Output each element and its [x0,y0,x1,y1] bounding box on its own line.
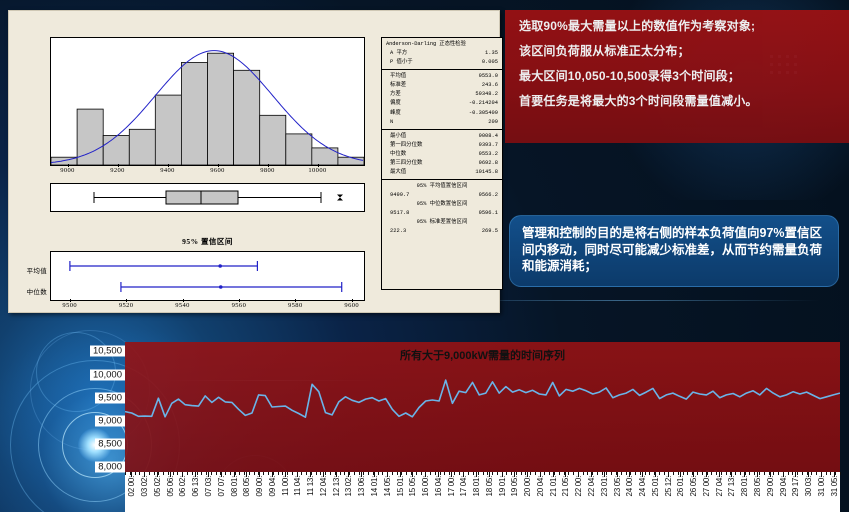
x-axis-minor-tick [316,472,317,475]
x-axis-minor-tick [587,472,588,475]
ci-upper: 9596.1 [479,209,498,218]
goal-callout-panel: 管理和控制的目的是将右侧的样本负荷值向97%置信区间内移动，同时尽可能减少标准差… [509,215,839,287]
x-axis-minor-tick [544,472,545,475]
x-axis-minor-tick [530,472,531,475]
x-axis-label: 11 04: [293,476,302,496]
table-row: 第一四分位数9393.7 [386,141,498,150]
x-axis-minor-tick [754,472,755,475]
x-axis-minor-tick [201,472,202,475]
x-axis-minor-tick [773,472,774,475]
table-row: 峰度-0.305409 [386,109,498,118]
stat-key: 平均值 [386,72,406,81]
x-axis-label: 27 00: [702,476,711,496]
x-axis-minor-tick [535,472,536,475]
x-axis-minor-tick [468,472,469,475]
x-axis-minor-tick [602,472,603,475]
x-axis-label: 22 04: [587,476,596,496]
stat-value: 9553.0 [479,72,498,81]
x-axis-minor-tick [187,472,188,475]
ci-point-estimate [218,264,222,268]
histogram-svg [51,38,364,165]
x-axis-label: 27 13: [727,476,736,496]
x-axis-minor-tick [440,472,441,475]
axis-tick-label: 9200 [110,167,125,174]
x-axis-label: 08 05: [242,476,251,496]
x-axis-minor-tick [211,472,212,475]
axis-tick-label: 9520 [119,302,134,309]
x-axis-minor-tick [158,472,159,475]
x-axis-minor-tick [597,472,598,475]
x-axis-label: 11 13: [306,476,315,496]
x-axis-minor-tick [559,472,560,475]
timeseries-x-axis: 02 00:03 02:05 02:05 06:06 02:06 13:07 0… [125,472,840,512]
x-axis-label: 22 00: [574,476,583,496]
x-axis-minor-tick [721,472,722,475]
observation-line-2: 该区间负荷服从标准正太分布； [519,45,835,57]
statistics-table: Anderson-Darling 正态性检验 A 平方1.35 P 值小于0.0… [381,37,503,290]
x-axis-minor-tick [230,472,231,475]
histogram-bar [208,53,234,165]
ci-upper: 9566.2 [479,191,498,200]
table-row: 9517.89596.1 [386,209,498,218]
x-axis-label: 28 05: [753,476,762,496]
x-axis-minor-tick [368,472,369,475]
x-axis-minor-tick [521,472,522,475]
histogram-bar [103,136,129,166]
x-axis-minor-tick [435,472,436,475]
y-axis-label: 8,500 [95,439,125,450]
stat-key: 方差 [386,90,401,99]
x-axis-minor-tick [835,472,836,475]
x-axis-minor-tick [749,472,750,475]
x-axis-label: 14 05: [383,476,392,496]
axis-tick-label: 9540 [175,302,190,309]
x-axis-minor-tick [206,472,207,475]
x-axis-label: 21 05: [561,476,570,496]
timeseries-chart: 8,0008,5009,0009,50010,00010,500 所有大于9,0… [0,322,849,512]
x-axis-minor-tick [254,472,255,475]
x-axis-minor-tick [483,472,484,475]
stat-key: A 平方 [386,49,407,58]
x-axis-label: 26 01: [676,476,685,496]
x-axis-minor-tick [649,472,650,475]
x-axis-minor-tick [697,472,698,475]
x-axis-label: 28 01: [740,476,749,496]
x-axis-minor-tick [301,472,302,475]
x-axis-minor-tick [611,472,612,475]
x-axis-minor-tick [492,472,493,475]
histogram-bar [286,134,312,165]
axis-tick-label: 9800 [260,167,275,174]
x-axis-minor-tick [778,472,779,475]
boxplot [50,183,365,212]
x-axis-minor-tick [268,472,269,475]
y-axis-label: 8,000 [95,462,125,473]
x-axis-minor-tick [573,472,574,475]
stat-key: 第三四分位数 [386,159,422,168]
stats-section-normality: Anderson-Darling 正态性检验 A 平方1.35 P 值小于0.0… [382,38,502,70]
stat-key: 中位数 [386,150,406,159]
table-row: 平均值9553.0 [386,72,498,81]
x-axis-label: 02 00: [127,476,136,496]
x-axis-minor-tick [788,472,789,475]
x-axis-minor-tick [478,472,479,475]
table-row: P 值小于0.005 [386,58,498,67]
x-axis-minor-tick [225,472,226,475]
x-axis-minor-tick [125,472,126,475]
x-axis-minor-tick [792,472,793,475]
x-axis-label: 25 12: [664,476,673,496]
x-axis-label: 21 01: [549,476,558,496]
ci-block-title: 95% 标准差置信区间 [386,218,498,227]
x-axis-minor-tick [664,472,665,475]
x-axis-minor-tick [216,472,217,475]
x-axis-minor-tick [802,472,803,475]
x-axis-minor-tick [149,472,150,475]
axis-tick-label: 9500 [62,302,77,309]
x-axis-minor-tick [645,472,646,475]
stat-value: 209 [488,118,498,127]
x-axis-minor-tick [673,472,674,475]
x-axis-label: 03 02: [140,476,149,496]
x-axis-minor-tick [139,472,140,475]
stat-value: 9393.7 [479,141,498,150]
table-row: 9499.79566.2 [386,191,498,200]
histogram-x-axis: 9000920094009600980010000 [50,167,365,181]
x-axis-label: 31 00: [817,476,826,496]
table-row: 偏度-0.214204 [386,99,498,108]
ci-lower: 9499.7 [386,191,409,200]
x-axis-label: 09 04: [268,476,277,496]
observation-line-4: 首要任务是将最大的3个时间段需量值减小。 [519,95,835,107]
observations-panel: 选取90%最大需量以上的数值作为考察对象; 该区间负荷服从标准正太分布； 最大区… [505,10,849,143]
x-axis-label: 05 02: [153,476,162,496]
x-axis-minor-tick [511,472,512,475]
x-axis-minor-tick [659,472,660,475]
x-axis-minor-tick [606,472,607,475]
x-axis-label: 19 05: [510,476,519,496]
x-axis-label: 29 00: [766,476,775,496]
x-axis-label: 12 04: [319,476,328,496]
y-axis-label: 10,500 [90,346,125,357]
stat-key: 第一四分位数 [386,141,422,150]
x-axis-label: 07 07: [217,476,226,496]
x-axis-label: 20 04: [536,476,545,496]
graphical-summary-report: 9000920094009600980010000 95% 置信区间 平均值 中… [8,10,500,313]
x-axis-minor-tick [568,472,569,475]
histogram-plot [50,37,365,166]
ci-point-estimate [219,285,223,289]
x-axis-minor-tick [454,472,455,475]
x-axis-minor-tick [363,472,364,475]
ci-block-title: 95% 平均值置信区间 [386,182,498,191]
x-axis-minor-tick [678,472,679,475]
x-axis-label: 30 03: [804,476,813,496]
histogram-bar [155,95,181,165]
x-axis-label: 19 01: [498,476,507,496]
x-axis-label: 09 00: [255,476,264,496]
x-axis-minor-tick [687,472,688,475]
stat-value: -0.214204 [469,99,498,108]
observation-line-3: 最大区间10,050-10,500录得3个时间段； [519,70,835,82]
x-axis-minor-tick [459,472,460,475]
stats-section-descriptive: 平均值9553.0 标准差243.6 方差59348.2 偏度-0.214204… [382,70,502,129]
x-axis-minor-tick [244,472,245,475]
axis-tick-label: 9000 [60,167,75,174]
x-axis-label: 14 01: [370,476,379,496]
x-axis-minor-tick [325,472,326,475]
axis-tick-label: 9580 [288,302,303,309]
x-axis-label: 07 03: [204,476,213,496]
observation-line-1: 选取90%最大需量以上的数值作为考察对象; [519,20,835,32]
x-axis-minor-tick [378,472,379,475]
ci-chart-title: 95% 置信区间 [50,236,365,247]
x-axis-label: 29 17: [791,476,800,496]
x-axis-label: 29 04: [779,476,788,496]
x-axis-minor-tick [797,472,798,475]
x-axis-minor-tick [764,472,765,475]
x-axis-minor-tick [382,472,383,475]
stat-key: 标准差 [386,81,406,90]
x-axis-minor-tick [430,472,431,475]
x-axis-label: 13 06: [357,476,366,496]
x-axis-minor-tick [840,472,841,475]
histogram-bar [181,63,207,166]
x-axis-minor-tick [716,472,717,475]
ad-test-title: Anderson-Darling 正态性检验 [386,40,498,49]
x-axis-minor-tick [473,472,474,475]
axis-tick-label: 9600 [344,302,359,309]
ci-lower: 9517.8 [386,209,409,218]
x-axis-label: 16 00: [421,476,430,496]
stat-value: 243.6 [482,81,498,90]
histogram-bar [338,157,364,165]
x-axis-minor-tick [506,472,507,475]
axis-tick-label: 9560 [232,302,247,309]
histogram-bar [129,129,155,165]
x-axis-minor-tick [330,472,331,475]
x-axis-minor-tick [354,472,355,475]
x-axis-minor-tick [549,472,550,475]
ci-block-title: 95% 中位数置信区间 [386,200,498,209]
x-axis-minor-tick [406,472,407,475]
timeseries-y-axis: 8,0008,5009,0009,50010,00010,500 [78,342,125,472]
x-axis-minor-tick [135,472,136,475]
x-axis-minor-tick [421,472,422,475]
table-row: A 平方1.35 [386,49,498,58]
x-axis-minor-tick [726,472,727,475]
stat-key: 峰度 [386,109,401,118]
ci-row-label-median: 中位数 [11,286,47,296]
stat-value: 59348.2 [475,90,498,99]
stat-value: 9008.4 [479,132,498,141]
x-axis-label: 18 05: [485,476,494,496]
x-axis-minor-tick [683,472,684,475]
axis-tick-label: 9600 [210,167,225,174]
x-axis-minor-tick [583,472,584,475]
x-axis-minor-tick [626,472,627,475]
x-axis-label: 15 01: [396,476,405,496]
table-row: 最小值9008.4 [386,132,498,141]
x-axis-minor-tick [811,472,812,475]
stat-value: 1.35 [485,49,498,58]
x-axis-minor-tick [177,472,178,475]
x-axis-minor-tick [630,472,631,475]
table-row: 标准差243.6 [386,81,498,90]
x-axis-minor-tick [740,472,741,475]
axis-tick-label: 10000 [308,167,326,174]
stat-value: -0.305409 [469,109,498,118]
boxplot-svg [51,184,364,211]
x-axis-label: 06 02: [178,476,187,496]
table-row: 方差59348.2 [386,90,498,99]
x-axis-minor-tick [263,472,264,475]
axis-tick-label: 9400 [160,167,175,174]
x-axis-label: 06 13: [191,476,200,496]
x-axis-label: 17 00: [447,476,456,496]
goal-callout-text: 管理和控制的目的是将右侧的样本负荷值向97%置信区间内移动，同时尽可能减少标准差… [522,225,826,275]
x-axis-label: 23 01: [600,476,609,496]
x-axis-label: 23 05: [613,476,622,496]
x-axis-minor-tick [711,472,712,475]
x-axis-label: 15 05: [408,476,417,496]
stat-key: 最大值 [386,168,406,177]
x-axis-minor-tick [197,472,198,475]
ci-svg [51,252,364,300]
x-axis-minor-tick [735,472,736,475]
x-axis-label: 11 00: [281,476,290,496]
timeseries-line [125,380,840,417]
x-axis-label: 18 01: [472,476,481,496]
x-axis-minor-tick [282,472,283,475]
x-axis-minor-tick [397,472,398,475]
timeseries-title: 所有大于9,000kW需量的时间序列 [125,347,840,363]
x-axis-minor-tick [497,472,498,475]
x-axis-minor-tick [344,472,345,475]
y-axis-label: 9,000 [95,415,125,426]
x-axis-minor-tick [826,472,827,475]
x-axis-label: 25 01: [651,476,660,496]
x-axis-minor-tick [173,472,174,475]
x-axis-label: 26 05: [689,476,698,496]
table-row: 最大值10145.8 [386,168,498,177]
stat-value: 0.005 [482,58,498,67]
x-axis-minor-tick [292,472,293,475]
x-axis-minor-tick [306,472,307,475]
histogram-bar [260,115,286,165]
table-row: 中位数9553.2 [386,150,498,159]
y-axis-label: 10,000 [90,369,125,380]
x-axis-minor-tick [759,472,760,475]
x-axis-label: 17 04: [459,476,468,496]
stat-key: P 值小于 [386,58,413,67]
x-axis-minor-tick [830,472,831,475]
x-axis-minor-tick [340,472,341,475]
confidence-interval-plot [50,251,365,301]
x-axis-minor-tick [320,472,321,475]
x-axis-label: 05 06: [166,476,175,496]
table-row: 第三四分位数9692.8 [386,159,498,168]
x-axis-minor-tick [401,472,402,475]
x-axis-label: 20 00: [523,476,532,496]
table-row: 222.3269.5 [386,227,498,236]
x-axis-minor-tick [287,472,288,475]
x-axis-label: 24 00: [625,476,634,496]
x-axis-minor-tick [416,472,417,475]
x-axis-label: 27 04: [715,476,724,496]
x-axis-label: 08 01: [230,476,239,496]
stat-value: 9692.8 [479,159,498,168]
x-axis-minor-tick [163,472,164,475]
histogram-bar [234,70,260,165]
y-axis-label: 9,500 [95,392,125,403]
x-axis-minor-tick [278,472,279,475]
x-axis-minor-tick [516,472,517,475]
x-axis-minor-tick [564,472,565,475]
x-axis-label: 13 02: [344,476,353,496]
x-axis-label: 31 05: [830,476,839,496]
x-axis-minor-tick [154,472,155,475]
x-axis-minor-tick [816,472,817,475]
x-axis-minor-tick [640,472,641,475]
ci-row-label-mean: 平均值 [11,265,47,275]
x-axis-minor-tick [249,472,250,475]
table-row: N209 [386,118,498,127]
x-axis-label: 24 04: [638,476,647,496]
x-axis-minor-tick [444,472,445,475]
x-axis-minor-tick [392,472,393,475]
ci-x-axis: 950095209540956095809600 [50,302,365,316]
ci-upper: 269.5 [482,227,498,236]
stat-key: 偏度 [386,99,401,108]
stat-key: 最小值 [386,132,406,141]
x-axis-minor-tick [702,472,703,475]
x-axis-minor-tick [635,472,636,475]
x-axis-minor-tick [554,472,555,475]
stat-value: 9553.2 [479,150,498,159]
x-axis-label: 12 13: [332,476,341,496]
x-axis-label: 16 04: [434,476,443,496]
x-axis-minor-tick [239,472,240,475]
ci-lower: 222.3 [386,227,406,236]
x-axis-minor-tick [273,472,274,475]
x-axis-minor-tick [359,472,360,475]
x-axis-minor-tick [621,472,622,475]
stats-section-confidence-intervals: 95% 平均值置信区间 9499.79566.2 95% 中位数置信区间 951… [382,180,502,238]
x-axis-minor-tick [235,472,236,475]
x-axis-minor-tick [192,472,193,475]
stats-section-quantiles: 最小值9008.4 第一四分位数9393.7 中位数9553.2 第三四分位数9… [382,130,502,180]
x-axis-minor-tick [592,472,593,475]
stat-key: N [386,118,393,127]
stat-value: 10145.8 [475,168,498,177]
